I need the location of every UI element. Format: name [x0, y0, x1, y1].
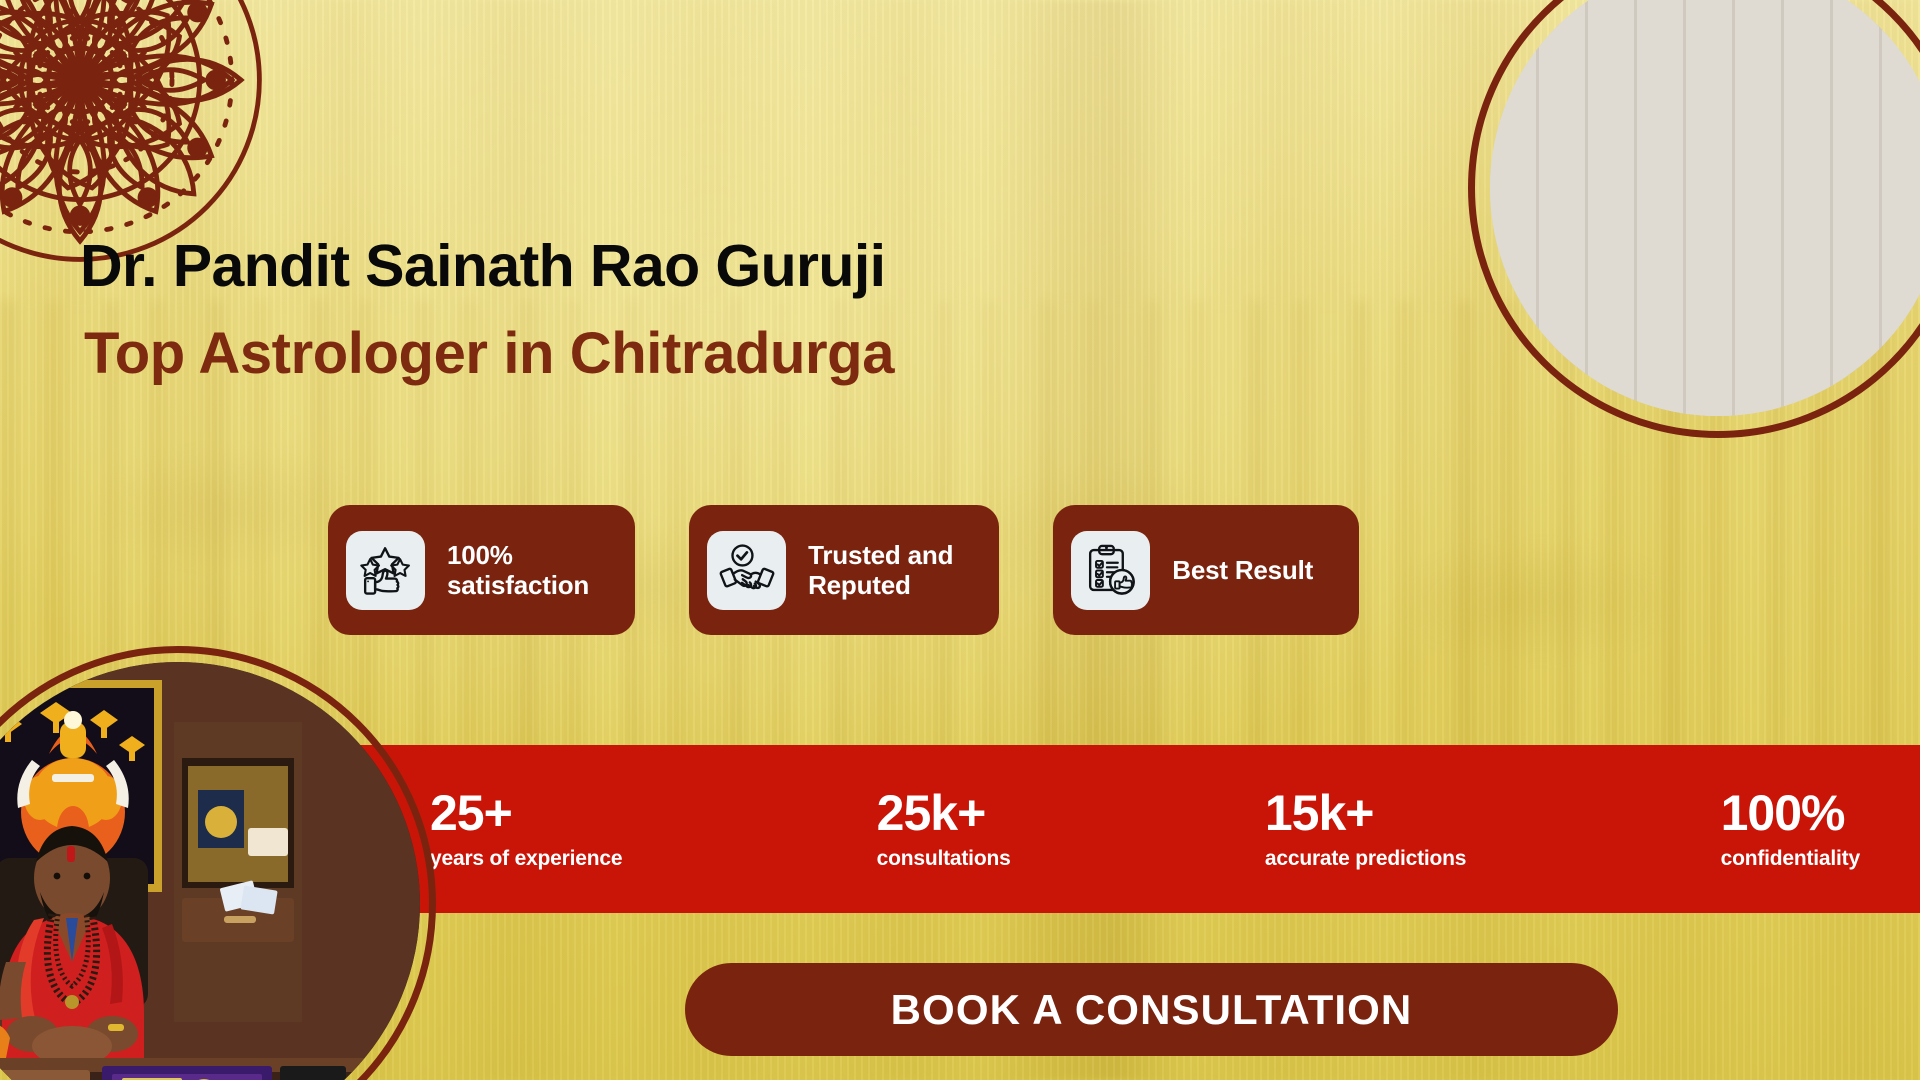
badge-label: Best Result — [1172, 555, 1313, 585]
clipboard-thumbs-up-icon — [1071, 531, 1150, 610]
book-consultation-label: BOOK A CONSULTATION — [891, 986, 1413, 1034]
stat-consultations: 25k+ consultations — [877, 788, 1011, 871]
stat-value: 15k+ — [1265, 788, 1466, 838]
stat-accurate-predictions: 15k+ accurate predictions — [1265, 788, 1466, 871]
stat-label: years of experience — [430, 847, 622, 871]
handshake-check-icon — [707, 531, 786, 610]
badge-label: Trusted and Reputed — [808, 540, 953, 600]
stat-label: consultations — [877, 847, 1011, 871]
stat-label: confidentiality — [1721, 847, 1860, 871]
page-subtitle: Top Astrologer in Chitradurga — [84, 320, 894, 387]
astrologer-ring-border — [0, 646, 436, 1080]
badge-trusted[interactable]: Trusted and Reputed — [689, 505, 999, 635]
thumbs-up-stars-icon — [346, 531, 425, 610]
stat-value: 25k+ — [877, 788, 1011, 838]
page-title: Dr. Pandit Sainath Rao Guruji — [80, 232, 885, 300]
hero-banner: Dr. Pandit Sainath Rao Guruji Top Astrol… — [0, 0, 1920, 1080]
stat-value: 100% — [1721, 788, 1860, 838]
trust-badges: 100% satisfaction Trusted and Reputed — [328, 505, 1359, 635]
stat-confidentiality: 100% confidentiality — [1721, 788, 1860, 871]
astrologer-image — [0, 646, 436, 1080]
stats-list: 25+ years of experience 25k+ consultatio… — [430, 745, 1860, 913]
stat-years-of-experience: 25+ years of experience — [430, 788, 622, 871]
badge-satisfaction[interactable]: 100% satisfaction — [328, 505, 635, 635]
badge-label: 100% satisfaction — [447, 540, 589, 600]
stat-label: accurate predictions — [1265, 847, 1466, 871]
deity-image — [1468, 0, 1920, 438]
badge-best-result[interactable]: Best Result — [1053, 505, 1359, 635]
stat-value: 25+ — [430, 788, 622, 838]
book-consultation-button[interactable]: BOOK A CONSULTATION — [685, 963, 1618, 1056]
